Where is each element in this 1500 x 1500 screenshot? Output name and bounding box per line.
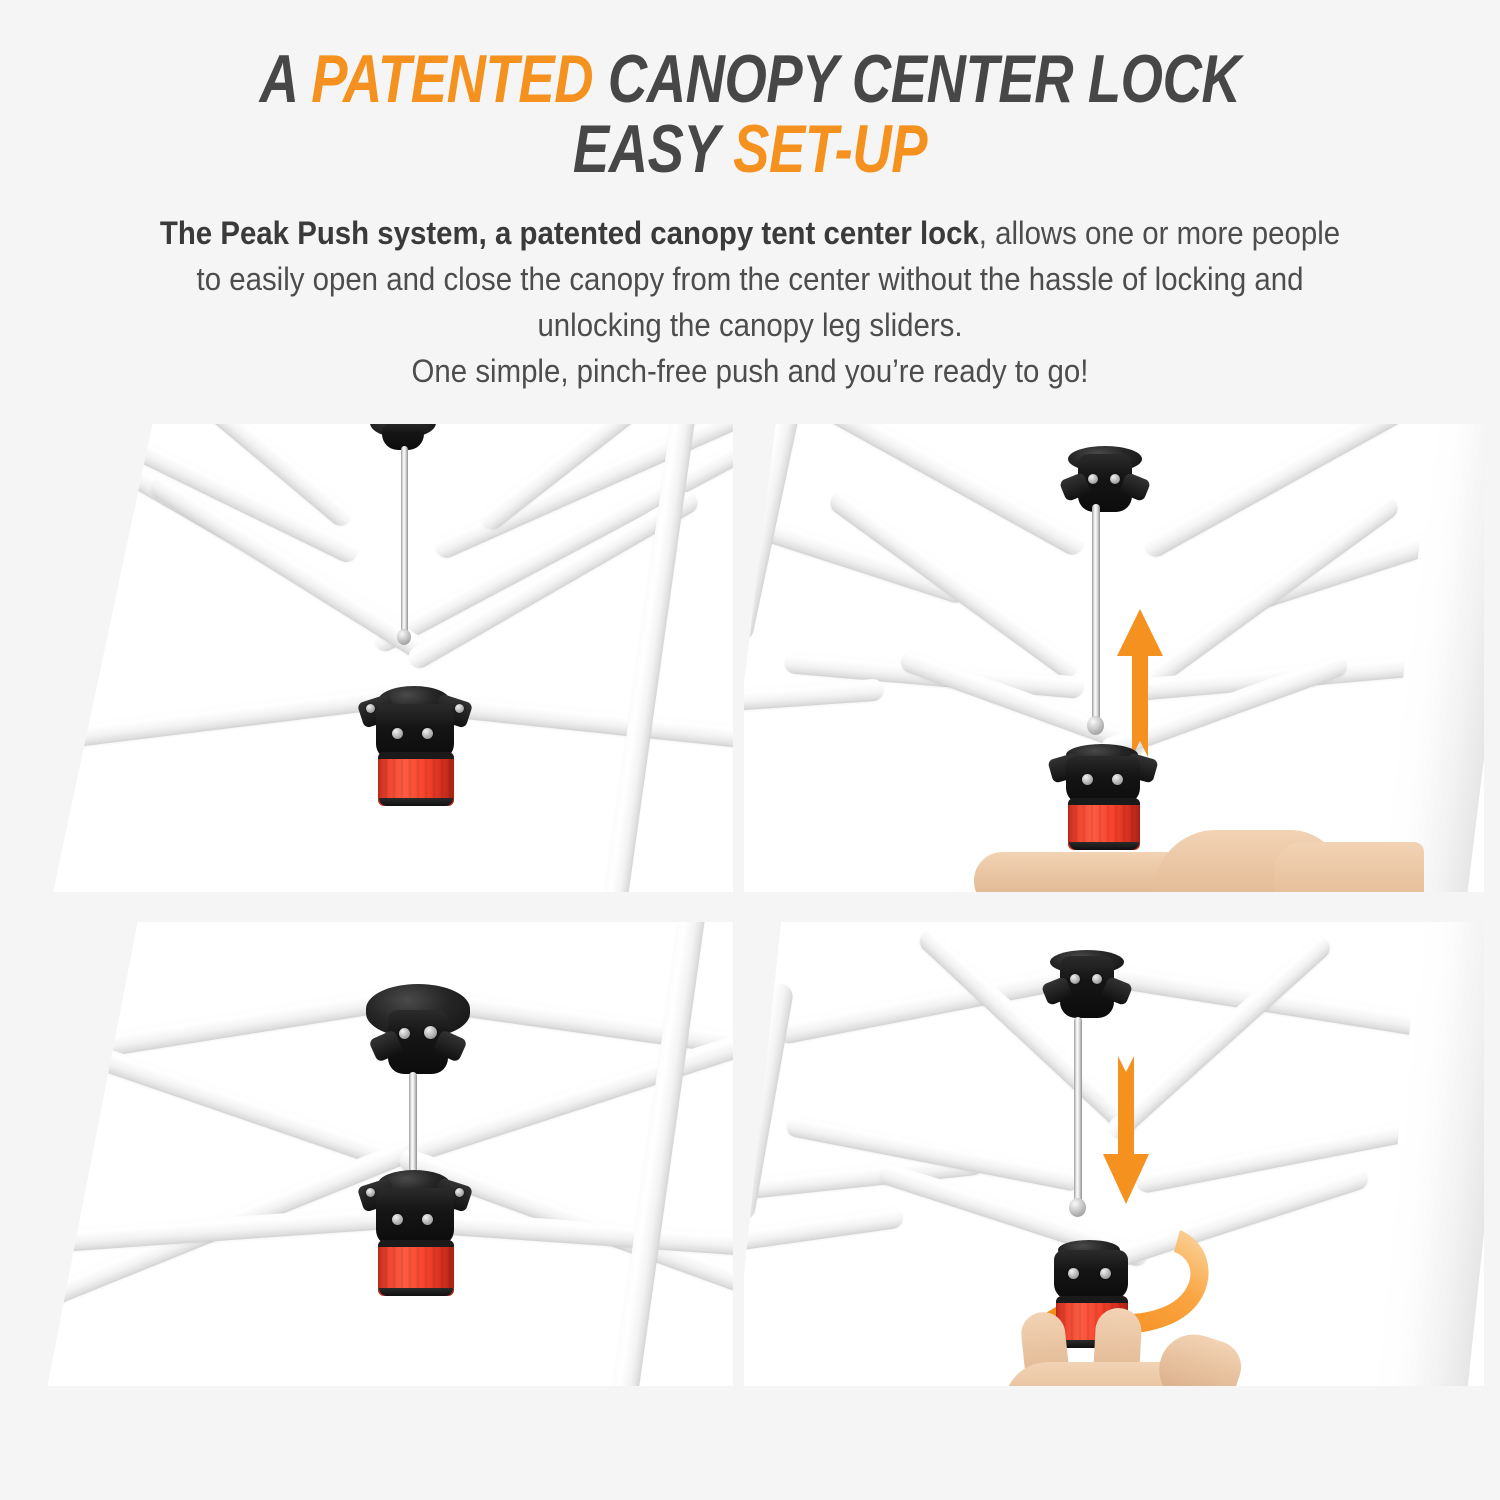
panel-4-photo	[744, 922, 1484, 1386]
frame-leg-pole	[611, 922, 706, 1386]
hub-screw	[1070, 974, 1080, 984]
arrow-up-icon	[1116, 609, 1164, 764]
description-lead: The Peak Push system, a patented canopy …	[160, 215, 979, 251]
hand-twisting-lock	[994, 1302, 1254, 1386]
panel-locked-open	[18, 922, 733, 1386]
panel-3-photo	[18, 922, 733, 1386]
hub-screw	[1082, 774, 1093, 785]
description-main: The Peak Push system, a patented canopy …	[148, 210, 1352, 348]
center-lock-assembly	[356, 1170, 476, 1305]
thumb	[1150, 1325, 1248, 1386]
hub-screw	[1110, 474, 1120, 484]
panel-push-up	[744, 424, 1484, 892]
hub-screw	[392, 728, 403, 739]
description-paragraph: The Peak Push system, a patented canopy …	[148, 210, 1352, 395]
center-lock-assembly	[356, 686, 476, 811]
frame-tube	[1135, 1116, 1434, 1195]
hub-screw	[455, 704, 464, 713]
hub-screw	[366, 704, 375, 713]
hub-screw	[392, 1214, 403, 1225]
hub-screw	[422, 728, 433, 739]
arrow-down-icon	[1102, 1054, 1150, 1204]
product-image-grid	[0, 424, 1500, 1386]
push-rod	[1074, 1017, 1082, 1207]
frame-tube	[744, 1205, 904, 1260]
panel-1-photo	[18, 424, 733, 892]
hub-screw	[422, 1214, 433, 1225]
push-rod-tip	[397, 629, 411, 645]
photo-edge-mask-left	[18, 922, 138, 1386]
hub-screw	[366, 1188, 375, 1197]
frame-tube	[147, 473, 439, 667]
hub-screw	[1088, 474, 1098, 484]
push-rod	[409, 1072, 417, 1182]
push-rod	[1092, 504, 1100, 724]
page-title: A PATENTED CANOPY CENTER LOCK EASY SET-U…	[206, 44, 1294, 184]
description-final-line: One simple, pinch-free push and you’re r…	[148, 348, 1352, 394]
hub-screw	[455, 1188, 464, 1197]
hub-screw	[1100, 1268, 1111, 1279]
hub-body	[1066, 756, 1140, 804]
title-highlight-patented: PATENTED	[311, 41, 593, 117]
wrist	[1274, 842, 1424, 892]
title-highlight-setup: SET-UP	[733, 111, 927, 187]
header: A PATENTED CANOPY CENTER LOCK EASY SET-U…	[0, 0, 1500, 395]
panel-twist-release	[744, 922, 1484, 1386]
upper-hub	[1062, 446, 1148, 516]
title-text-canopy-center-lock: CANOPY CENTER LOCK	[593, 41, 1240, 117]
push-rod-tip	[1069, 1198, 1086, 1217]
hub-screw	[399, 1028, 410, 1039]
red-center-lock	[378, 1240, 454, 1296]
frame-leg-pole	[1363, 922, 1484, 1386]
hub-body	[1054, 1250, 1128, 1300]
push-rod	[401, 446, 408, 636]
panel-collapsed-closed	[18, 424, 733, 892]
push-rod-tip	[1087, 716, 1104, 735]
title-text-a: A	[260, 41, 312, 117]
red-center-lock	[378, 752, 454, 806]
hub-screw	[1092, 974, 1102, 984]
hand-holding-lock	[974, 824, 1404, 892]
hub-screw	[424, 1026, 437, 1039]
upper-hub	[1044, 950, 1130, 1028]
frame-tube	[744, 678, 884, 715]
panel-2-photo	[744, 424, 1484, 892]
photo-edge-mask-left	[18, 424, 153, 892]
hub-screw	[1112, 774, 1123, 785]
hub-screw	[1068, 1268, 1079, 1279]
hub-body	[376, 1188, 454, 1246]
title-text-easy: EASY	[573, 111, 733, 187]
upper-hub	[366, 984, 470, 1086]
